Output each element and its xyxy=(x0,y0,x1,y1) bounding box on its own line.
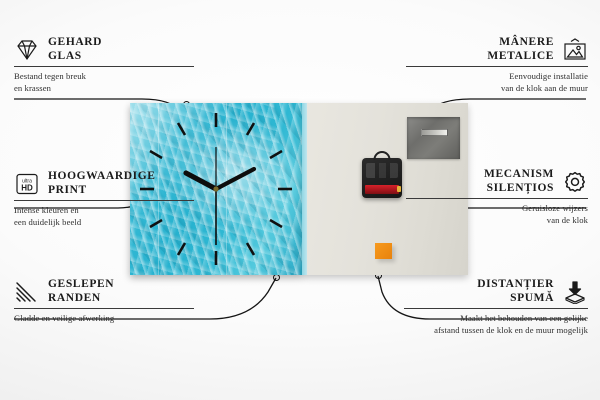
endpoint-dot-polished-edges xyxy=(273,274,280,281)
press-down-icon xyxy=(562,280,588,304)
feature-header: ultra HD HOOGWAARDIGE PRINT xyxy=(14,170,194,197)
feature-polished-edges: GESLEPEN RANDEN Gladde en veilige afwerk… xyxy=(14,278,194,325)
feature-metal-handles: MÂNERE METALICE Eenvoudige installatie v… xyxy=(406,36,588,94)
feature-tempered-glass: GEHARD GLAS Bestand tegen breuk en krass… xyxy=(14,36,194,94)
mechanism-hanger-loop xyxy=(374,151,391,160)
feature-title: HOOGWAARDIGE PRINT xyxy=(48,170,156,197)
divider xyxy=(406,198,588,199)
feature-foam-spacer: DISTANȚIER SPUMĂ Maakt het behouden van … xyxy=(404,278,588,336)
feature-header: GEHARD GLAS xyxy=(14,36,194,63)
wall-hanger-icon xyxy=(562,38,588,62)
feature-title: GEHARD GLAS xyxy=(48,36,102,63)
battery xyxy=(365,185,399,194)
feature-description: Gladde en veilige afwerking xyxy=(14,313,194,325)
diamond-icon xyxy=(14,38,40,62)
feature-description: Geruisloze wijzers van de klok xyxy=(406,203,588,226)
infographic-canvas: GEHARD GLAS Bestand tegen breuk en krass… xyxy=(0,0,600,400)
divider xyxy=(406,66,588,67)
clock-mechanism-box xyxy=(362,158,402,198)
feature-description: Maakt het behouden van een gelijke afsta… xyxy=(404,313,588,336)
divider xyxy=(14,308,194,309)
mechanism-housing-detail xyxy=(366,163,398,178)
gear-icon xyxy=(562,170,588,194)
ultra-hd-badge-icon: ultra HD xyxy=(14,172,40,196)
divider xyxy=(14,66,194,67)
hanger-slot xyxy=(421,129,448,136)
feature-hd-print: ultra HD HOOGWAARDIGE PRINT Intense kleu… xyxy=(14,170,194,228)
feature-silent-mechanism: MECANISM SILENȚIOS Geruisloze wijzers va… xyxy=(406,168,588,226)
feature-title: MECANISM SILENȚIOS xyxy=(484,168,554,195)
feature-description: Bestand tegen breuk en krassen xyxy=(14,71,194,94)
feature-description: Eenvoudige installatie van de klok aan d… xyxy=(406,71,588,94)
svg-text:HD: HD xyxy=(21,183,33,192)
feature-header: DISTANȚIER SPUMĂ xyxy=(404,278,588,305)
feature-header: MÂNERE METALICE xyxy=(406,36,588,63)
feature-header: GESLEPEN RANDEN xyxy=(14,278,194,305)
feature-title: GESLEPEN RANDEN xyxy=(48,278,114,305)
divider xyxy=(14,200,194,201)
metal-hanger-plate xyxy=(407,117,460,159)
beveled-edge-icon xyxy=(14,280,40,304)
glass-edge xyxy=(302,103,307,275)
divider xyxy=(404,308,588,309)
feature-description: Intense kleuren en een duidelijk beeld xyxy=(14,205,194,228)
feature-title: MÂNERE METALICE xyxy=(487,36,554,63)
feature-title: DISTANȚIER SPUMĂ xyxy=(477,278,554,305)
orange-foam-spacer xyxy=(375,243,392,259)
feature-header: MECANISM SILENȚIOS xyxy=(406,168,588,195)
